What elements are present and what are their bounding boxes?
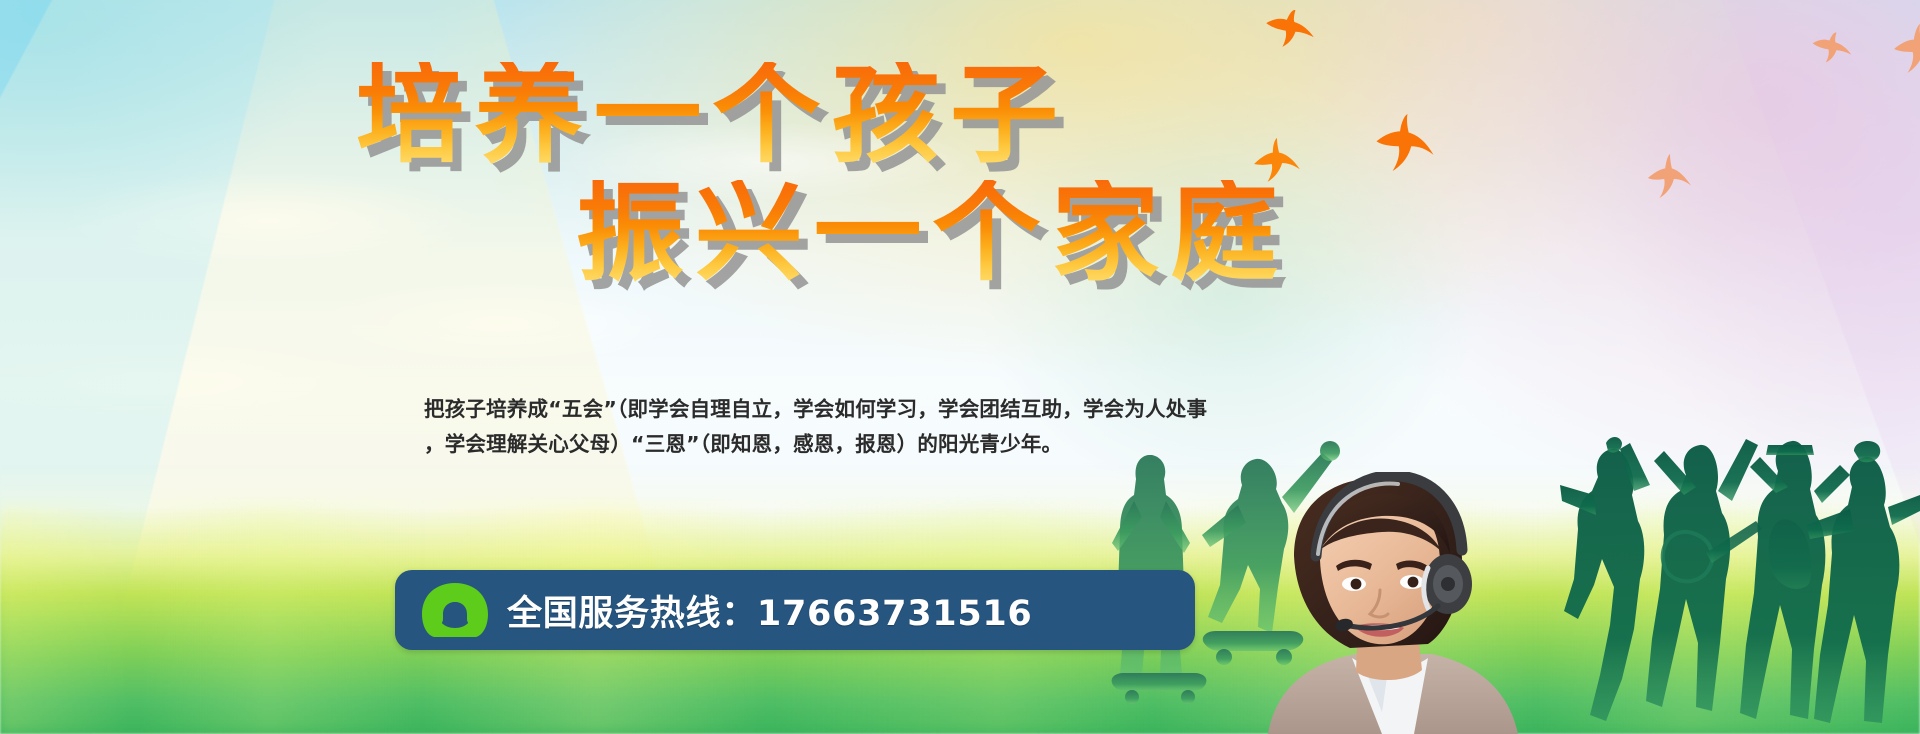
subtitle-line-2: ，学会理解关心父母）“三恩”（即知恩，感恩，报恩）的阳光青少年。 bbox=[424, 427, 1244, 462]
bird-icon bbox=[1262, 8, 1318, 62]
headline-line-1: 培养一个孩子 bbox=[356, 62, 1069, 170]
hotline-bar[interactable]: 全国服务热线：17663731516 bbox=[395, 570, 1195, 650]
hotline-text: 全国服务热线：17663731516 bbox=[507, 585, 1032, 636]
telephone-icon bbox=[421, 581, 489, 639]
subtitle-line-1: 把孩子培养成“五会”（即学会自理自立，学会如何学习，学会团结互助，学会为人处事 bbox=[424, 392, 1244, 427]
headline-line-2: 振兴一个家庭 bbox=[576, 180, 1289, 288]
bird-icon bbox=[1892, 20, 1920, 80]
bird-icon bbox=[1646, 150, 1694, 206]
promo-banner: 培养一个孩子 振兴一个家庭 把孩子培养成“五会”（即学会自理自立，学会如何学习，… bbox=[0, 0, 1920, 734]
subtitle-paragraph: 把孩子培养成“五会”（即学会自理自立，学会如何学习，学会团结互助，学会为人处事 … bbox=[424, 392, 1244, 463]
bird-icon bbox=[1374, 112, 1436, 178]
bird-icon bbox=[1810, 30, 1854, 74]
